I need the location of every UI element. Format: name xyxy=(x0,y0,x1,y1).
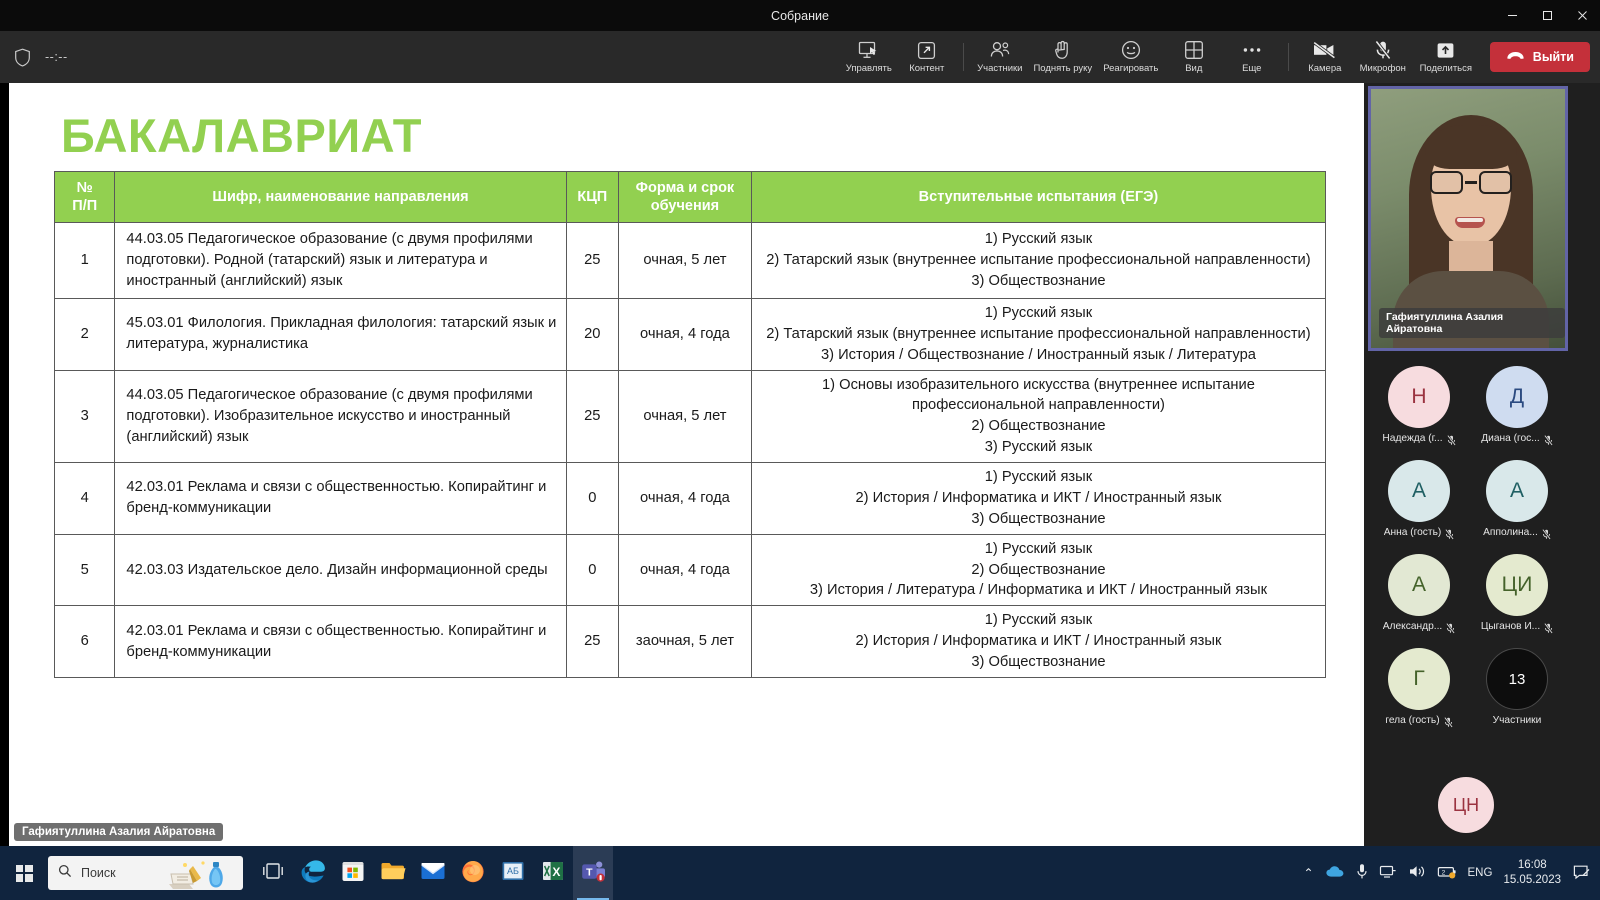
cell-program: 44.03.05 Педагогическое образование (с д… xyxy=(115,223,566,299)
mic-off-icon xyxy=(1542,527,1551,538)
cell-exams: 1) Русский язык 2) Татарский язык (внутр… xyxy=(751,223,1325,299)
windows-start-icon xyxy=(16,865,33,882)
exam-line: 1) Русский язык xyxy=(762,610,1315,631)
participant-name-row: Апполина... xyxy=(1483,527,1551,538)
onedrive-icon[interactable] xyxy=(1325,865,1345,881)
cell-form: очная, 4 года xyxy=(618,534,751,606)
toolbar-item-manage[interactable]: Управлять xyxy=(840,33,898,81)
slide-title: БАКАЛАВРИАТ xyxy=(61,108,422,163)
edge-icon xyxy=(299,857,327,890)
svg-text:АБ: АБ xyxy=(507,866,519,876)
taskbar-app-microsoft-store[interactable] xyxy=(333,846,373,900)
meeting-timer: --:-- xyxy=(45,50,68,64)
battery-icon[interactable]: 2 xyxy=(1437,864,1457,882)
header-line: П/П xyxy=(59,197,110,215)
clock[interactable]: 16:08 15.05.2023 xyxy=(1503,858,1561,887)
participant-tile[interactable]: А Анна (гость) xyxy=(1370,460,1468,538)
toolbar-label: Реагировать xyxy=(1103,63,1158,74)
cell-program: 42.03.01 Реклама и связи с общественност… xyxy=(115,463,566,535)
window-title-bar: Собрание xyxy=(0,0,1600,31)
avatar: А xyxy=(1388,460,1450,522)
exam-line: 2) Обществознание xyxy=(762,560,1315,581)
lens-right xyxy=(1479,171,1512,194)
table-row: 4 42.03.01 Реклама и связи с общественно… xyxy=(55,463,1326,535)
cell-kcp: 0 xyxy=(566,534,618,606)
cell-kcp: 25 xyxy=(566,606,618,678)
toolbar-item-camera[interactable]: Камера xyxy=(1296,33,1354,81)
toolbar-action-group: Управлять Контент Участники Поднять xyxy=(840,33,1600,81)
share-up-arrow-icon xyxy=(1436,40,1455,60)
toolbar-item-content[interactable]: Контент xyxy=(898,33,956,81)
shared-content-stage[interactable]: БАКАЛАВРИАТ № П/П Шифр, наименование нап… xyxy=(9,83,1364,846)
participants-rail: Гафиятуллина Азалия Айратовна Н Надежда … xyxy=(1364,83,1600,846)
avatar: А xyxy=(1486,460,1548,522)
table-row: 2 45.03.01 Филология. Прикладная филолог… xyxy=(55,298,1326,370)
table-row: 5 42.03.03 Издательское дело. Дизайн инф… xyxy=(55,534,1326,606)
exam-line: 1) Русский язык xyxy=(762,467,1315,488)
mic-off-icon xyxy=(1446,621,1455,632)
table-row: 1 44.03.05 Педагогическое образование (с… xyxy=(55,223,1326,299)
teams-meeting-window: Собрание --:-- Управл xyxy=(0,0,1600,900)
svg-text:X: X xyxy=(552,865,560,879)
teeth-shape xyxy=(1457,218,1483,222)
participant-tile[interactable]: А Александр... xyxy=(1370,554,1468,632)
raise-hand-icon xyxy=(1054,40,1071,60)
svg-text:2: 2 xyxy=(1441,870,1445,877)
exam-line: 3) Обществознание xyxy=(762,509,1315,530)
people-icon xyxy=(989,40,1011,60)
header-line: № xyxy=(59,179,110,197)
toolbar-label: Участники xyxy=(977,63,1022,74)
cell-kcp: 20 xyxy=(566,298,618,370)
screen-control-icon xyxy=(858,40,879,60)
participants-overflow-tile[interactable]: 13 Участники xyxy=(1468,648,1566,726)
emoji-icon xyxy=(1121,40,1141,60)
cell-number: 1 xyxy=(55,223,115,299)
taskbar-app-excel[interactable]: X xyxy=(533,846,573,900)
cell-exams: 1) Русский язык 2) История / Информатика… xyxy=(751,606,1325,678)
shield-icon xyxy=(14,48,31,67)
participant-grid: Н Надежда (г... Д Диана (гос... xyxy=(1370,366,1566,726)
participant-name-row: Цыганов И... xyxy=(1481,621,1553,632)
task-view-icon xyxy=(262,862,284,885)
mail-icon xyxy=(420,861,446,886)
toolbar-item-microphone[interactable]: Микрофон xyxy=(1354,33,1412,81)
toolbar-item-more[interactable]: Еще xyxy=(1223,33,1281,81)
system-tray: ⌃ 2 ENG 16:08 15.05.2023 xyxy=(1303,858,1600,887)
cell-number: 4 xyxy=(55,463,115,535)
close-button[interactable] xyxy=(1565,0,1600,31)
self-view-name-label: Гафиятуллина Азалия Айратовна xyxy=(1379,308,1565,338)
exam-line: 2) Татарский язык (внутреннее испытание … xyxy=(762,324,1315,345)
toolbar-left-group: --:-- xyxy=(0,48,68,67)
toolbar-label: Поделиться xyxy=(1420,63,1472,74)
participant-tile[interactable]: Д Диана (гос... xyxy=(1468,366,1566,444)
exam-line: 1) Русский язык xyxy=(762,539,1315,560)
mic-off-icon xyxy=(1374,40,1392,60)
firefox-icon xyxy=(460,858,486,889)
toolbar-label: Контент xyxy=(909,63,944,74)
notification-icon[interactable] xyxy=(1572,863,1592,883)
cell-exams: 1) Основы изобразительного искусства (вн… xyxy=(751,370,1325,463)
language-indicator[interactable]: ENG xyxy=(1468,867,1493,879)
table-header-row: № П/П Шифр, наименование направления КЦП… xyxy=(55,172,1326,223)
exam-line: 3) История / Литература / Информатика и … xyxy=(762,580,1315,601)
store-icon xyxy=(340,858,366,889)
rail-lower-area: ЦН xyxy=(1364,773,1600,846)
exam-line: 3) Русский язык xyxy=(762,437,1315,458)
participant-tile[interactable]: ЦИ Цыганов И... xyxy=(1468,554,1566,632)
participant-name: Александр... xyxy=(1383,621,1442,632)
table-body: 1 44.03.05 Педагогическое образование (с… xyxy=(55,223,1326,678)
cell-kcp: 25 xyxy=(566,223,618,299)
toolbar-item-share[interactable]: Поделиться xyxy=(1412,33,1480,81)
toolbar-label: Еще xyxy=(1242,63,1261,74)
participant-tile[interactable]: Г гела (гость) xyxy=(1370,648,1468,726)
admissions-table: № П/П Шифр, наименование направления КЦП… xyxy=(54,171,1326,678)
exam-line: 2) Обществознание xyxy=(762,416,1315,437)
toolbar-item-participants[interactable]: Участники xyxy=(971,33,1029,81)
toolbar-item-react[interactable]: Реагировать xyxy=(1097,33,1165,81)
exam-line: 3) Обществознание xyxy=(762,271,1315,292)
cell-form: очная, 4 года xyxy=(618,298,751,370)
window-title: Собрание xyxy=(771,9,829,23)
exam-line: 3) История / Обществознание / Иностранны… xyxy=(762,345,1315,366)
avatar[interactable]: ЦН xyxy=(1438,777,1494,833)
cell-kcp: 25 xyxy=(566,370,618,463)
toolbar-divider xyxy=(1288,43,1289,71)
window-controls xyxy=(1495,0,1600,31)
cell-program: 45.03.01 Филология. Прикладная филология… xyxy=(115,298,566,370)
cell-kcp: 0 xyxy=(566,463,618,535)
column-header-exams: Вступительные испытания (ЕГЭ) xyxy=(751,172,1325,223)
column-header-number: № П/П xyxy=(55,172,115,223)
toolbar-label: Поднять руку xyxy=(1033,63,1092,74)
glasses-bridge xyxy=(1465,181,1477,184)
dictionary-icon: АБ xyxy=(501,860,525,887)
taskbar-app-microsoft-edge[interactable] xyxy=(293,846,333,900)
teams-icon: T xyxy=(580,859,606,888)
taskbar-app-dictionary[interactable]: АБ xyxy=(493,846,533,900)
svg-text:T: T xyxy=(586,866,593,878)
cell-form: очная, 4 года xyxy=(618,463,751,535)
start-button[interactable] xyxy=(0,846,48,900)
cell-number: 2 xyxy=(55,298,115,370)
volume-icon[interactable] xyxy=(1408,864,1426,882)
toolbar-label: Камера xyxy=(1308,63,1341,74)
cell-number: 6 xyxy=(55,606,115,678)
header-line: Форма и срок xyxy=(623,179,747,197)
exam-line: 2) Татарский язык (внутреннее испытание … xyxy=(762,250,1315,271)
network-icon[interactable] xyxy=(1379,864,1397,882)
explorer-icon xyxy=(380,860,407,887)
mic-off-icon xyxy=(1445,527,1454,538)
clock-date: 15.05.2023 xyxy=(1503,873,1561,888)
overflow-count: 13 xyxy=(1486,648,1548,710)
camera-off-icon xyxy=(1312,40,1337,60)
overflow-label-row: Участники xyxy=(1493,715,1542,726)
participant-name: Анна (гость) xyxy=(1384,527,1442,538)
fringe-shape xyxy=(1425,125,1517,169)
participant-name: Диана (гос... xyxy=(1481,433,1540,444)
taskbar-app-mail[interactable] xyxy=(413,846,453,900)
cell-form: очная, 5 лет xyxy=(618,370,751,463)
avatar: А xyxy=(1388,554,1450,616)
lens-left xyxy=(1430,171,1463,194)
table-row: 6 42.03.01 Реклама и связи с общественно… xyxy=(55,606,1326,678)
participant-name-row: Александр... xyxy=(1383,621,1455,632)
cell-program: 42.03.03 Издательское дело. Дизайн инфор… xyxy=(115,534,566,606)
mic-off-icon xyxy=(1444,715,1453,726)
cell-exams: 1) Русский язык 2) Татарский язык (внутр… xyxy=(751,298,1325,370)
taskbar-app-firefox[interactable] xyxy=(453,846,493,900)
taskbar-search-input[interactable]: Поиск xyxy=(48,856,243,890)
mic-icon[interactable] xyxy=(1356,863,1368,883)
windows-taskbar: Поиск xyxy=(0,846,1600,900)
toolbar-label: Микрофон xyxy=(1360,63,1406,74)
minimize-button[interactable] xyxy=(1495,0,1530,31)
taskbar-app-buttons: АБ X xyxy=(253,846,613,900)
header-line: обучения xyxy=(623,197,747,215)
taskbar-app-microsoft-teams[interactable]: T xyxy=(573,846,613,900)
cell-number: 3 xyxy=(55,370,115,463)
cell-exams: 1) Русский язык 2) История / Информатика… xyxy=(751,463,1325,535)
cell-form: заочная, 5 лет xyxy=(618,606,751,678)
excel-icon: X xyxy=(541,859,565,888)
cell-number: 5 xyxy=(55,534,115,606)
phone-hangup-icon xyxy=(1506,50,1525,64)
exam-line: 3) Обществознание xyxy=(762,652,1315,673)
column-header-kcp: КЦП xyxy=(566,172,618,223)
mic-off-icon xyxy=(1447,433,1456,444)
table-row: 3 44.03.05 Педагогическое образование (с… xyxy=(55,370,1326,463)
toolbar-label: Вид xyxy=(1185,63,1202,74)
search-illustration-icon xyxy=(163,858,241,890)
self-view-video-tile[interactable]: Гафиятуллина Азалия Айратовна xyxy=(1368,86,1568,351)
taskbar-app-file-explorer[interactable] xyxy=(373,846,413,900)
mic-off-icon xyxy=(1544,433,1553,444)
cell-program: 42.03.01 Реклама и связи с общественност… xyxy=(115,606,566,678)
search-icon xyxy=(58,864,72,883)
toolbar-item-raise-hand[interactable]: Поднять руку xyxy=(1029,33,1097,81)
toolbar-divider xyxy=(963,43,964,71)
clock-time: 16:08 xyxy=(1503,858,1561,873)
participant-name-row: гела (гость) xyxy=(1385,715,1452,726)
tray-chevron-icon[interactable]: ⌃ xyxy=(1303,866,1313,880)
leave-button-label: Выйти xyxy=(1533,50,1574,64)
participant-name: гела (гость) xyxy=(1385,715,1439,726)
participant-name: Надежда (г... xyxy=(1382,433,1442,444)
overflow-label: Участники xyxy=(1493,715,1542,726)
column-header-form: Форма и срок обучения xyxy=(618,172,751,223)
avatar: ЦИ xyxy=(1486,554,1548,616)
cell-form: очная, 5 лет xyxy=(618,223,751,299)
exam-line: 1) Русский язык xyxy=(762,229,1315,250)
search-placeholder-text: Поиск xyxy=(81,866,116,880)
exam-line: 1) Русский язык xyxy=(762,303,1315,324)
cell-exams: 1) Русский язык 2) Обществознание 3) Ист… xyxy=(751,534,1325,606)
cell-program: 44.03.05 Педагогическое образование (с д… xyxy=(115,370,566,463)
participant-name: Апполина... xyxy=(1483,527,1538,538)
exam-line: 1) Основы изобразительного искусства (вн… xyxy=(762,375,1315,417)
more-ellipsis-icon xyxy=(1242,40,1262,60)
maximize-button[interactable] xyxy=(1530,0,1565,31)
participant-name: Цыганов И... xyxy=(1481,621,1540,632)
column-header-program: Шифр, наименование направления xyxy=(115,172,566,223)
toolbar-item-view[interactable]: Вид xyxy=(1165,33,1223,81)
view-grid-icon xyxy=(1184,40,1204,60)
avatar: Г xyxy=(1388,648,1450,710)
participant-name-row: Диана (гос... xyxy=(1481,433,1553,444)
participant-tile[interactable]: Н Надежда (г... xyxy=(1370,366,1468,444)
mic-off-icon xyxy=(1544,621,1553,632)
leave-meeting-button[interactable]: Выйти xyxy=(1490,42,1590,72)
presenter-name-pill: Гафиятуллина Азалия Айратовна xyxy=(14,823,223,841)
exam-line: 2) История / Информатика и ИКТ / Иностра… xyxy=(762,631,1315,652)
participant-tile[interactable]: А Апполина... xyxy=(1468,460,1566,538)
participant-name-row: Надежда (г... xyxy=(1382,433,1455,444)
toolbar-label: Управлять xyxy=(846,63,892,74)
taskbar-app-task-view[interactable] xyxy=(253,846,293,900)
participant-name-row: Анна (гость) xyxy=(1384,527,1455,538)
meeting-toolbar: --:-- Управлять Контент Участник xyxy=(0,31,1600,83)
avatar: Д xyxy=(1486,366,1548,428)
glasses-shape xyxy=(1429,171,1513,195)
avatar: Н xyxy=(1388,366,1450,428)
content-share-icon xyxy=(917,40,936,60)
exam-line: 2) История / Информатика и ИКТ / Иностра… xyxy=(762,488,1315,509)
